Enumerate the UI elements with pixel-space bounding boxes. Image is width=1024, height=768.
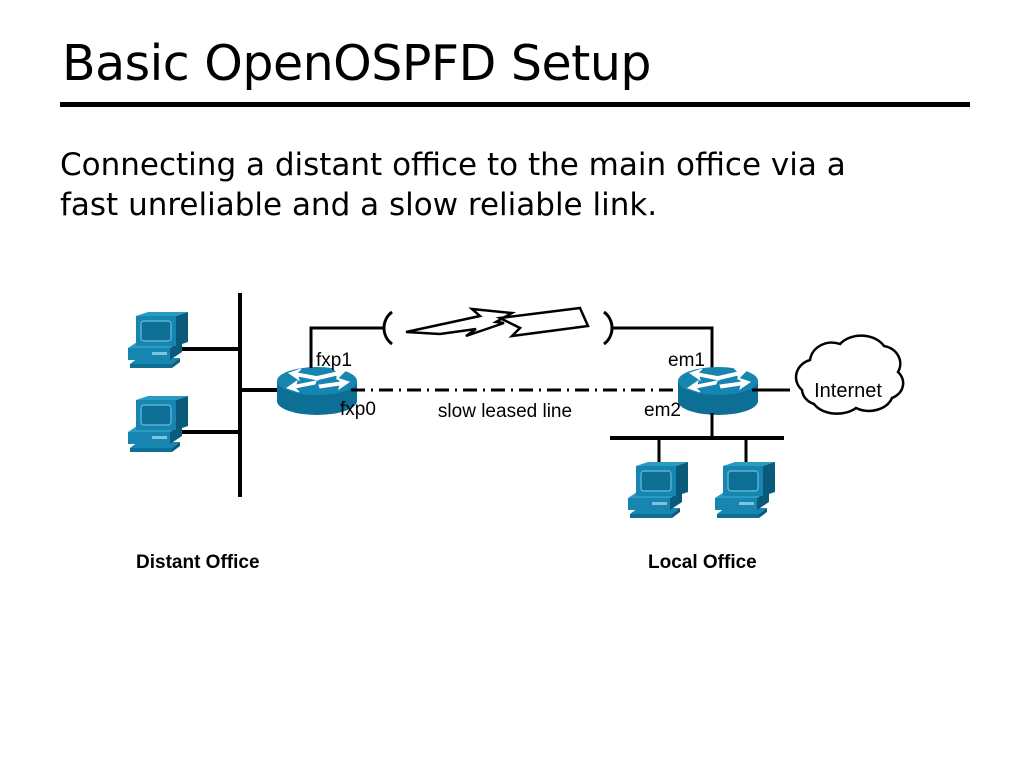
distant-pc-top <box>128 312 188 368</box>
title-divider <box>60 102 970 107</box>
caption-local-office: Local Office <box>648 552 757 573</box>
lightning-bolt-icon <box>406 309 512 336</box>
internet-cloud-label: Internet <box>814 380 882 402</box>
internet-cloud: Internet <box>796 336 903 414</box>
wireless-arc-right <box>604 312 612 344</box>
wireless-arc-left <box>384 312 392 344</box>
distant-pc-bottom <box>128 396 188 452</box>
label-em2: em2 <box>644 400 681 421</box>
local-router <box>678 367 758 415</box>
network-diagram: Internet fxp1 fxp0 em1 em2 slow leased l… <box>0 250 1024 630</box>
slide: Basic OpenOSPFD Setup Connecting a dista… <box>0 0 1024 768</box>
body-line-1: Connecting a distant office to the main … <box>60 145 960 185</box>
local-pc-right <box>715 462 775 518</box>
label-fxp1: fxp1 <box>316 350 352 371</box>
label-fxp0: fxp0 <box>340 399 376 420</box>
label-em1: em1 <box>668 350 705 371</box>
slide-body-text: Connecting a distant office to the main … <box>60 145 960 226</box>
caption-distant-office: Distant Office <box>136 552 260 573</box>
local-pc-left <box>628 462 688 518</box>
body-line-2: fast unreliable and a slow reliable link… <box>60 185 960 225</box>
label-slow-leased-line: slow leased line <box>438 401 572 422</box>
page-title: Basic OpenOSPFD Setup <box>62 38 651 89</box>
